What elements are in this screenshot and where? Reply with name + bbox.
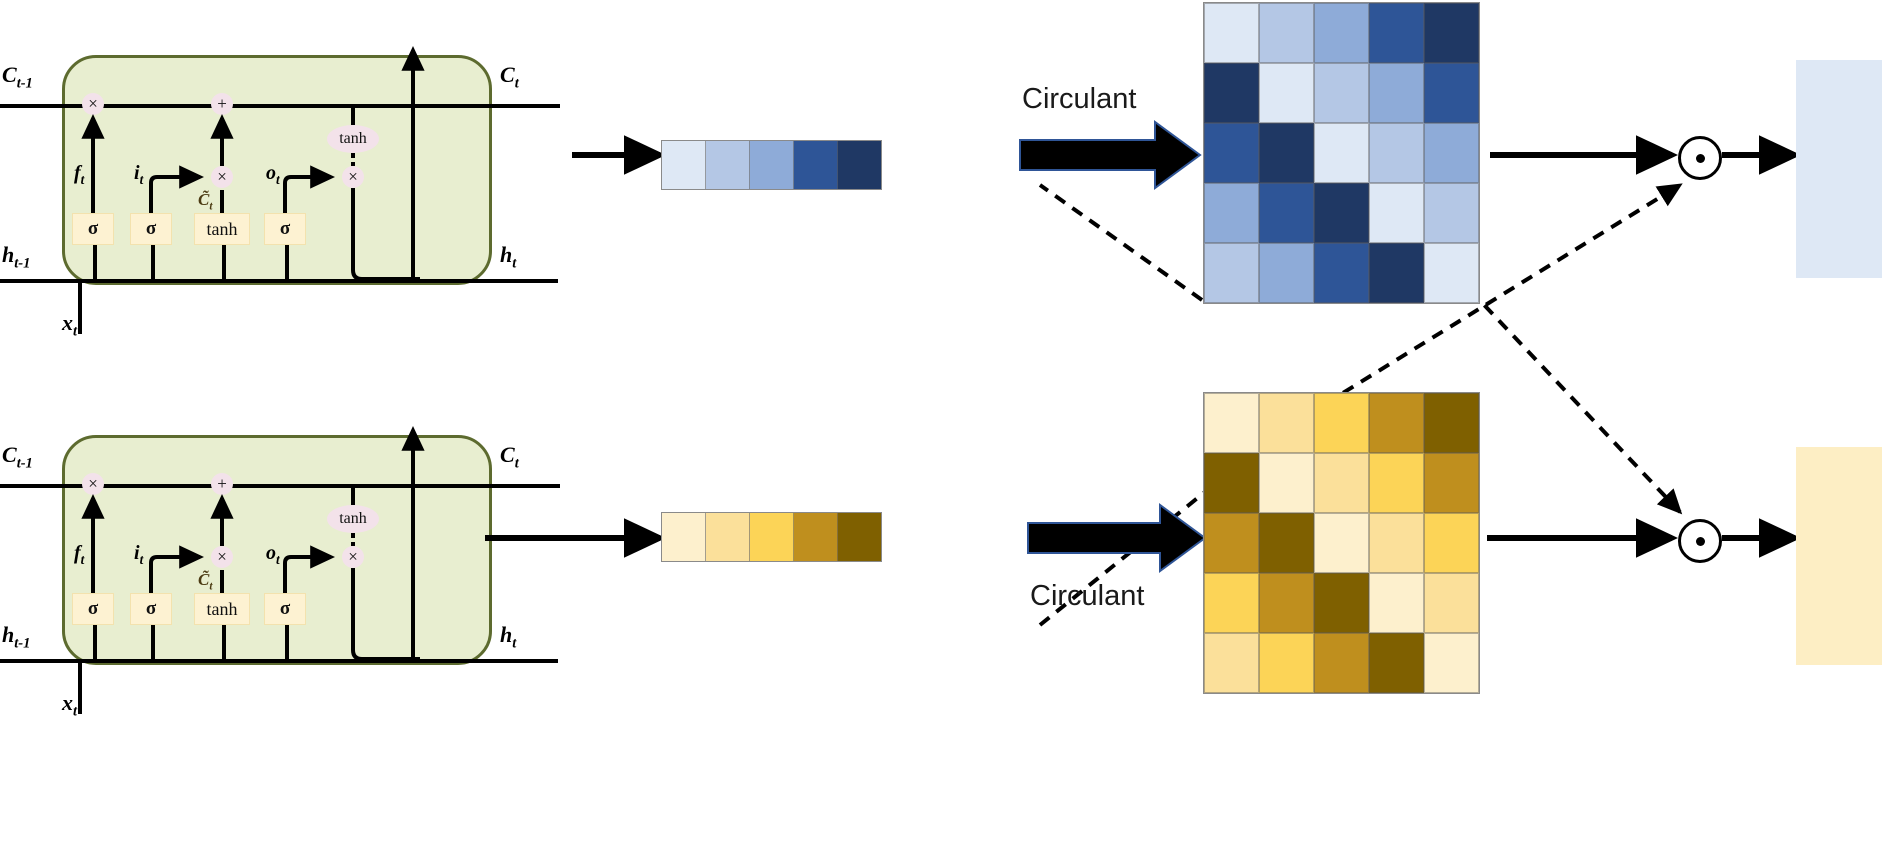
gold-hadamard-product xyxy=(1678,519,1722,563)
matrix-cell xyxy=(1314,633,1369,693)
blue-circulant-matrix xyxy=(1203,2,1480,304)
matrix-cell xyxy=(1314,3,1369,63)
matrix-cell xyxy=(1314,513,1369,573)
vector-cell xyxy=(662,513,706,561)
matrix-cell xyxy=(1314,123,1369,183)
circulant-label-lower: Circulant xyxy=(1030,580,1144,613)
matrix-cell xyxy=(1204,573,1259,633)
matrix-cell xyxy=(1424,183,1479,243)
matrix-cell xyxy=(1369,63,1424,123)
matrix-cell xyxy=(1424,573,1479,633)
matrix-cell xyxy=(1314,453,1369,513)
matrix-cell xyxy=(1314,63,1369,123)
matrix-cell xyxy=(1259,3,1314,63)
blue-hadamard-product xyxy=(1678,136,1722,180)
matrix-cell xyxy=(1369,393,1424,453)
matrix-cell xyxy=(1369,633,1424,693)
matrix-cell xyxy=(1424,393,1479,453)
vector-cell xyxy=(750,513,794,561)
matrix-cell xyxy=(1204,633,1259,693)
matrix-cell xyxy=(1204,3,1259,63)
vector-cell xyxy=(706,513,750,561)
matrix-cell xyxy=(1424,3,1479,63)
diagram-canvas: σ σ tanh σ × + × × tanh xyxy=(0,0,1900,841)
matrix-cell xyxy=(1204,123,1259,183)
matrix-cell xyxy=(1259,513,1314,573)
matrix-cell xyxy=(1259,63,1314,123)
matrix-cell xyxy=(1369,183,1424,243)
matrix-cell xyxy=(1314,243,1369,303)
gold-output-block xyxy=(1796,447,1882,665)
matrix-cell xyxy=(1424,63,1479,123)
matrix-cell xyxy=(1314,183,1369,243)
flow-layer xyxy=(0,0,1900,841)
matrix-cell xyxy=(1424,513,1479,573)
vector-cell xyxy=(706,141,750,189)
hadamard-dot-icon xyxy=(1696,154,1705,163)
gold-vector xyxy=(661,512,882,562)
matrix-cell xyxy=(1259,633,1314,693)
vector-cell xyxy=(794,513,838,561)
matrix-cell xyxy=(1369,513,1424,573)
matrix-cell xyxy=(1204,183,1259,243)
matrix-cell xyxy=(1314,393,1369,453)
matrix-cell xyxy=(1314,573,1369,633)
vector-cell xyxy=(794,141,838,189)
matrix-cell xyxy=(1204,513,1259,573)
matrix-cell xyxy=(1424,123,1479,183)
matrix-cell xyxy=(1369,3,1424,63)
blue-vector xyxy=(661,140,882,190)
matrix-cell xyxy=(1204,453,1259,513)
hadamard-dot-icon xyxy=(1696,537,1705,546)
matrix-cell xyxy=(1369,453,1424,513)
vector-cell xyxy=(838,141,881,189)
matrix-cell xyxy=(1369,243,1424,303)
matrix-cell xyxy=(1204,393,1259,453)
matrix-cell xyxy=(1259,573,1314,633)
matrix-cell xyxy=(1424,243,1479,303)
matrix-cell xyxy=(1424,633,1479,693)
matrix-cell xyxy=(1204,63,1259,123)
matrix-cell xyxy=(1369,123,1424,183)
matrix-cell xyxy=(1259,393,1314,453)
matrix-cell xyxy=(1259,453,1314,513)
vector-cell xyxy=(662,141,706,189)
matrix-cell xyxy=(1259,243,1314,303)
matrix-cell xyxy=(1424,453,1479,513)
vector-cell xyxy=(838,513,881,561)
circulant-label-upper: Circulant xyxy=(1022,83,1136,116)
matrix-cell xyxy=(1204,243,1259,303)
matrix-cell xyxy=(1259,123,1314,183)
vector-cell xyxy=(750,141,794,189)
gold-circulant-matrix xyxy=(1203,392,1480,694)
blue-output-block xyxy=(1796,60,1882,278)
matrix-cell xyxy=(1259,183,1314,243)
matrix-cell xyxy=(1369,573,1424,633)
